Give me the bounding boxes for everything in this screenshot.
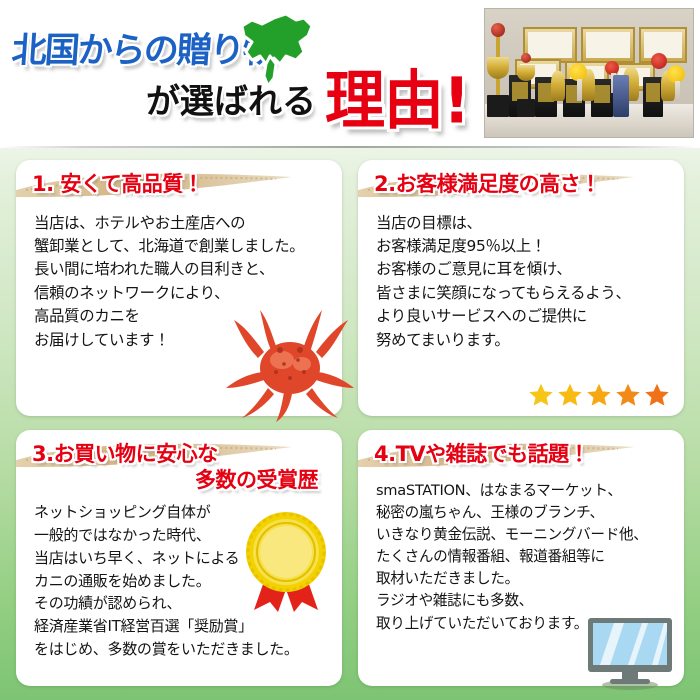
panel-4-line-1: smaSTATION、はなまるマーケット、 bbox=[376, 480, 672, 502]
panel-2-line-4: 皆さまに笑顔になってもらえるよう、 bbox=[376, 282, 672, 305]
panel-1-heading: 1. 安くて高品質！ bbox=[16, 160, 342, 198]
panel-3-line-4: カニの通販を始めました。 bbox=[34, 570, 330, 593]
star-icon-5 bbox=[644, 382, 670, 408]
panel-4-heading: 4.TVや雑誌でも話題！ bbox=[358, 430, 684, 468]
panel-2-line-2: お客様満足度95％以上！ bbox=[376, 235, 672, 258]
panel-3-body: ネットショッピング自体が 一般的ではなかった時代、 当店はいち早く、ネットによる… bbox=[16, 493, 342, 661]
panel-2-heading: 2.お客様満足度の高さ！ bbox=[358, 160, 684, 198]
panel-4-line-3: いきなり黄金伝説、モーニングバード他、 bbox=[376, 524, 672, 546]
panel-2-line-1: 当店の目標は、 bbox=[376, 212, 672, 235]
panel-3-line-7: をはじめ、多数の賞をいただきました。 bbox=[34, 638, 330, 661]
reasons-grid: 1. 安くて高品質！ 当店は、ホテルやお土産店への 蟹卸業として、北海道で創業し… bbox=[0, 148, 700, 700]
panel-1-line-4: 信頼のネットワークにより、 bbox=[34, 282, 330, 305]
panel-2-line-3: お客様のご意見に耳を傾け、 bbox=[376, 258, 672, 281]
panel-3-line-3: 当店はいち早く、ネットによる bbox=[34, 547, 330, 570]
star-icon-2 bbox=[557, 382, 583, 408]
panel-4-line-2: 秘密の嵐ちゃん、王様のブランチ、 bbox=[376, 502, 672, 524]
promo-banner: 北国からの贈り物 が選ばれる 理由! bbox=[0, 0, 700, 700]
star-icon-4 bbox=[615, 382, 641, 408]
panel-3-line-2: 一般的ではなかった時代、 bbox=[34, 524, 330, 547]
banner-header: 北国からの贈り物 が選ばれる 理由! bbox=[0, 0, 700, 148]
awards-photo bbox=[484, 8, 694, 138]
panel-1-body: 当店は、ホテルやお土産店への 蟹卸業として、北海道で創業しました。 長い間に培わ… bbox=[16, 198, 342, 352]
panel-4-line-5: 取材いただきました。 bbox=[376, 568, 672, 590]
panel-1-line-5: 高品質のカニを bbox=[34, 305, 330, 328]
panel-1-line-1: 当店は、ホテルやお土産店への bbox=[34, 212, 330, 235]
panel-2-line-6: 努めてまいります。 bbox=[376, 329, 672, 352]
panel-4-line-6: ラジオや雑誌にも多数、 bbox=[376, 590, 672, 612]
panel-4: 4.TVや雑誌でも話題！ smaSTATION、はなまるマーケット、 秘密の嵐ち… bbox=[358, 430, 684, 686]
panel-4-body: smaSTATION、はなまるマーケット、 秘密の嵐ちゃん、王様のブランチ、 い… bbox=[358, 468, 684, 635]
panel-2-body: 当店の目標は、 お客様満足度95％以上！ お客様のご意見に耳を傾け、 皆さまに笑… bbox=[358, 198, 684, 352]
panel-1-line-3: 長い間に培われた職人の目利きと、 bbox=[34, 258, 330, 281]
panel-1-line-6: お届けしています！ bbox=[34, 329, 330, 352]
header-reason-word: 理由! bbox=[325, 49, 469, 141]
panel-3-line-5: その功績が認められ、 bbox=[34, 592, 330, 615]
star-icon-3 bbox=[586, 382, 612, 408]
star-icon-1 bbox=[528, 382, 554, 408]
panel-2-heading-line1: 2.お客様満足度の高さ！ bbox=[374, 172, 601, 196]
panel-2: 2.お客様満足度の高さ！ 当店の目標は、 お客様満足度95％以上！ お客様のご意… bbox=[358, 160, 684, 416]
panel-4-heading-line1: 4.TVや雑誌でも話題！ bbox=[374, 442, 589, 466]
panel-1: 1. 安くて高品質！ 当店は、ホテルやお土産店への 蟹卸業として、北海道で創業し… bbox=[16, 160, 342, 416]
panel-1-line-2: 蟹卸業として、北海道で創業しました。 bbox=[34, 235, 330, 258]
header-subtitle: が選ばれる bbox=[146, 74, 316, 123]
panel-4-line-7: 取り上げていただいております。 bbox=[376, 613, 672, 635]
panel-3-heading-line1: 3.お買い物に安心な bbox=[32, 442, 218, 466]
panel-4-line-4: たくさんの情報番組、報道番組等に bbox=[376, 546, 672, 568]
panel-3-heading: 3.お買い物に安心な 多数の受賞歴 bbox=[16, 430, 342, 493]
panel-3: 3.お買い物に安心な 多数の受賞歴 ネットショッピング自体が 一般的ではなかった… bbox=[16, 430, 342, 686]
panel-3-line-1: ネットショッピング自体が bbox=[34, 501, 330, 524]
panel-3-heading-line2: 多数の受賞歴 bbox=[32, 468, 332, 494]
panel-2-line-5: より良いサービスへのご提供に bbox=[376, 305, 672, 328]
panel-1-heading-line1: 1. 安くて高品質！ bbox=[32, 172, 203, 196]
star-rating bbox=[528, 382, 670, 408]
panel-3-line-6: 経済産業省IT経営百選「奨励賞」 bbox=[34, 615, 330, 638]
